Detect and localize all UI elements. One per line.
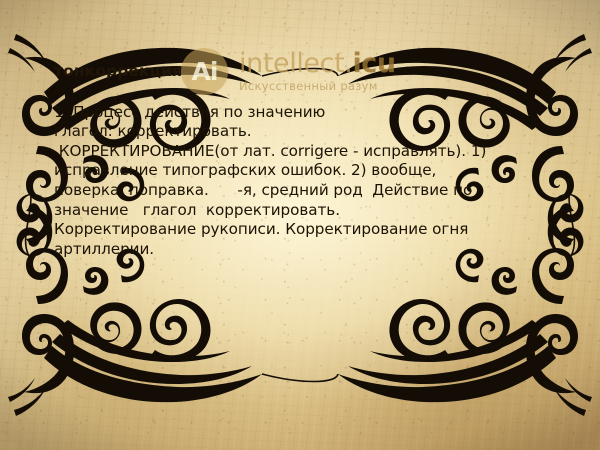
card-content: тонкоррекция 1. Процесс действия по знач… [54, 62, 564, 259]
edge-flourish-left [26, 182, 31, 256]
edge-flourish-bottom [262, 374, 338, 382]
headword: тонкоррекция [54, 62, 564, 81]
edge-flourish-right [569, 182, 574, 256]
definition-text: 1. Процесс действия по значению глагол: … [54, 103, 564, 260]
dictionary-card: Ai intellect.icu Искусственный разум тон… [0, 0, 600, 450]
